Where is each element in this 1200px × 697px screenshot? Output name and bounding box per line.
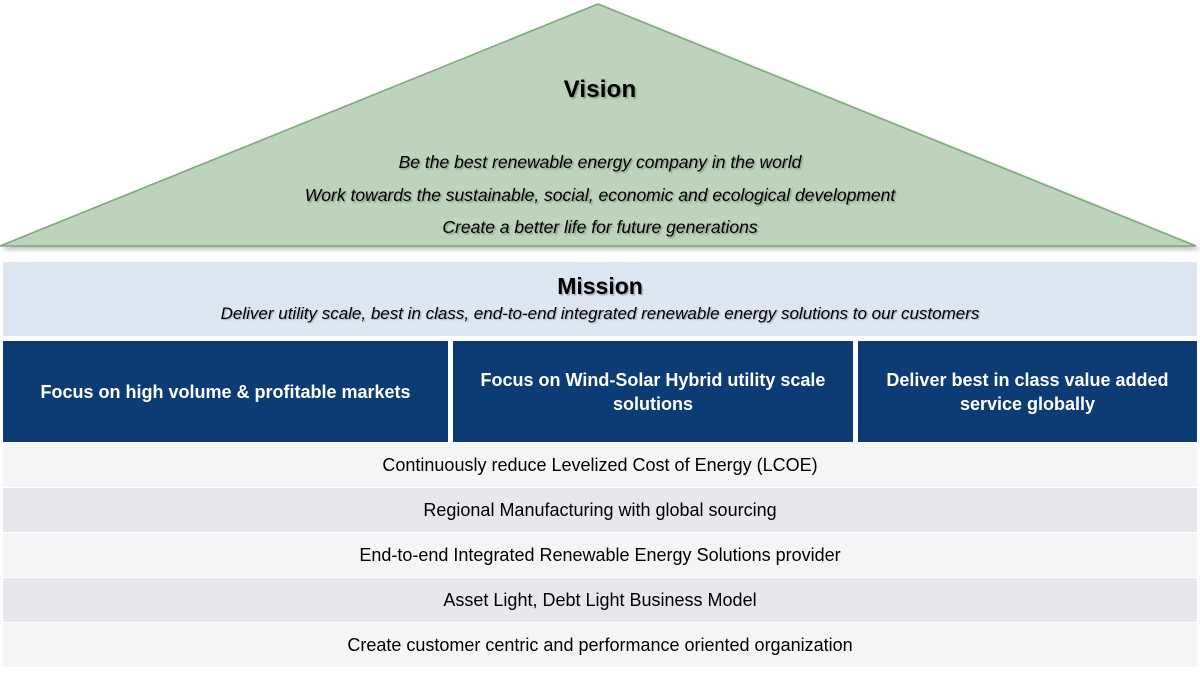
vision-line: Create a better life for future generati… [0, 211, 1200, 244]
vision-line: Be the best renewable energy company in … [0, 146, 1200, 179]
vision-title: Vision [0, 76, 1200, 104]
strategy-row-label: End-to-end Integrated Renewable Energy S… [359, 545, 840, 566]
strategy-row[interactable]: Asset Light, Debt Light Business Model [3, 578, 1197, 622]
strategy-row-label: Regional Manufacturing with global sourc… [423, 500, 776, 521]
mission-statement: Deliver utility scale, best in class, en… [3, 304, 1197, 324]
strategy-row-label: Continuously reduce Levelized Cost of En… [382, 455, 817, 476]
pillar-focus-markets[interactable]: Focus on high volume & profitable market… [3, 341, 448, 442]
vision-lines: Be the best renewable energy company in … [0, 146, 1200, 244]
strategy-row-label: Create customer centric and performance … [347, 635, 852, 656]
mission-section: Mission Deliver utility scale, best in c… [3, 262, 1197, 336]
strategy-row[interactable]: Continuously reduce Levelized Cost of En… [3, 443, 1197, 487]
strategy-row-label: Asset Light, Debt Light Business Model [443, 590, 756, 611]
mission-title: Mission [3, 273, 1197, 300]
pillars-section: Focus on high volume & profitable market… [3, 341, 1197, 442]
vision-section: Vision Be the best renewable energy comp… [0, 0, 1200, 252]
pillar-label: Deliver best in class value added servic… [868, 368, 1187, 416]
pillar-wind-solar-hybrid[interactable]: Focus on Wind-Solar Hybrid utility scale… [453, 341, 853, 442]
pillar-label: Focus on high volume & profitable market… [40, 380, 410, 404]
pillar-label: Focus on Wind-Solar Hybrid utility scale… [463, 368, 843, 416]
strategy-rows-section: Continuously reduce Levelized Cost of En… [3, 443, 1197, 668]
strategy-row[interactable]: Create customer centric and performance … [3, 623, 1197, 667]
vision-line: Work towards the sustainable, social, ec… [0, 179, 1200, 212]
strategy-row[interactable]: Regional Manufacturing with global sourc… [3, 488, 1197, 532]
pillar-value-added-service[interactable]: Deliver best in class value added servic… [858, 341, 1197, 442]
strategy-row[interactable]: End-to-end Integrated Renewable Energy S… [3, 533, 1197, 577]
vision-text-block: Vision Be the best renewable energy comp… [0, 0, 1200, 252]
